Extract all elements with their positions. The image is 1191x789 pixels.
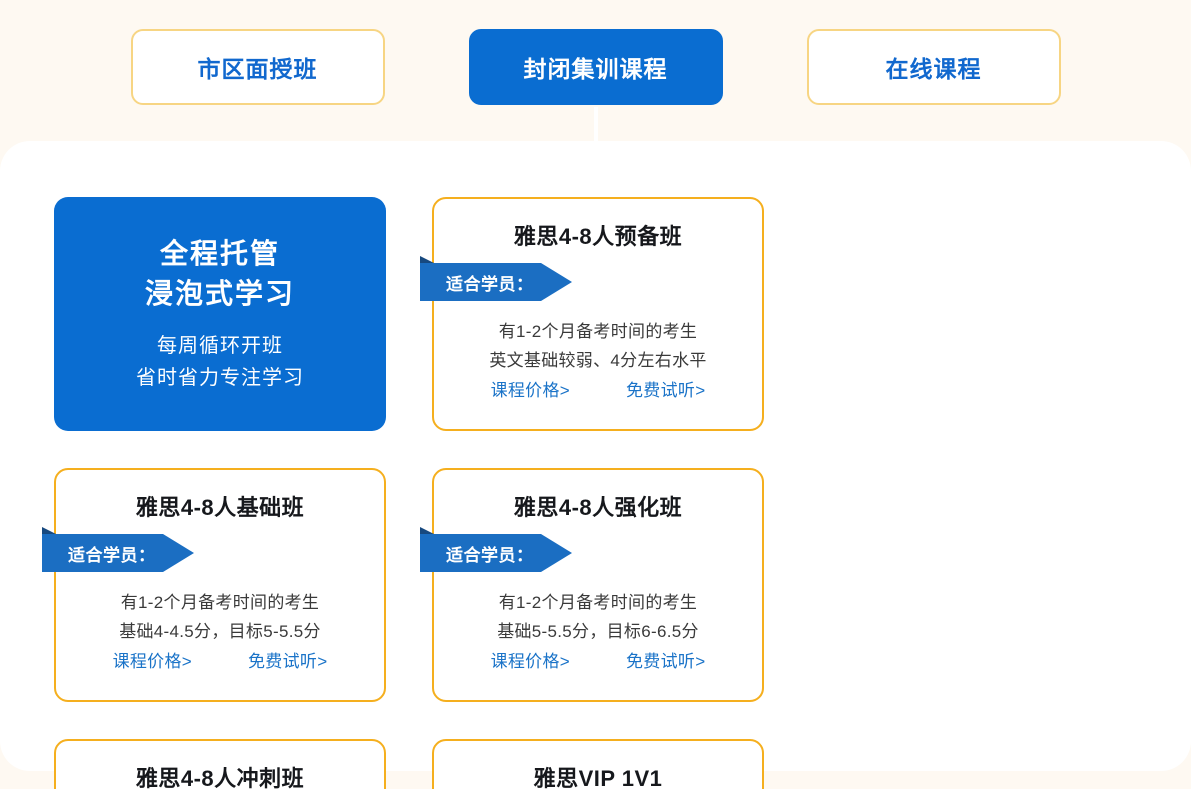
course-links: 课程价格> 免费试听>: [434, 376, 762, 401]
course-title: 雅思VIP 1V1: [434, 761, 762, 789]
course-description: 有1-2个月备考时间的考生 基础5-5.5分，目标6-6.5分: [434, 588, 762, 646]
hero-title-line-1: 全程托管: [145, 234, 295, 274]
course-title: 雅思4-8人预备班: [434, 219, 762, 251]
hero-title-line-2: 浸泡式学习: [145, 274, 295, 314]
ribbon-label: 适合学员：: [420, 541, 534, 566]
ribbon-label: 适合学员：: [42, 541, 156, 566]
ribbon-body: 适合学员：: [420, 534, 572, 572]
tab-online-course[interactable]: 在线课程: [807, 29, 1061, 105]
course-card[interactable]: 雅思VIP 1V1 适合学员： 根据学生基础，定制专属课程 课程价格> 免费试听…: [432, 739, 764, 789]
tab-label: 在线课程: [886, 50, 982, 84]
course-card[interactable]: 雅思4-8人冲刺班 适合学员： 有1-2个月备考时间的考生 基础6-6.5分，目…: [54, 739, 386, 789]
suitable-students-ribbon: 适合学员：: [42, 534, 194, 572]
ribbon-body: 适合学员：: [42, 534, 194, 572]
course-title: 雅思4-8人强化班: [434, 490, 762, 522]
course-description: 有1-2个月备考时间的考生 英文基础较弱、4分左右水平: [434, 317, 762, 375]
ribbon-label: 适合学员：: [420, 270, 534, 295]
ribbon-fold-icon: [420, 527, 434, 534]
description-line: 有1-2个月备考时间的考生: [434, 317, 762, 346]
course-price-link[interactable]: 课程价格>: [491, 647, 570, 672]
course-category-tabs: 市区面授班 封闭集训课程 在线课程: [0, 29, 1191, 105]
course-title: 雅思4-8人基础班: [56, 490, 384, 522]
course-title: 雅思4-8人冲刺班: [56, 761, 384, 789]
course-card[interactable]: 雅思4-8人基础班 适合学员： 有1-2个月备考时间的考生 基础4-4.5分，目…: [54, 468, 386, 702]
course-card[interactable]: 雅思4-8人强化班 适合学员： 有1-2个月备考时间的考生 基础5-5.5分，目…: [432, 468, 764, 702]
free-trial-link[interactable]: 免费试听>: [626, 376, 705, 401]
hero-promo-card[interactable]: 全程托管 浸泡式学习 每周循环开班 省时省力专注学习: [54, 197, 386, 431]
hero-title: 全程托管 浸泡式学习: [145, 234, 295, 314]
tab-label: 封闭集训课程: [524, 50, 668, 84]
course-links: 课程价格> 免费试听>: [434, 647, 762, 672]
tab-closed-intensive[interactable]: 封闭集训课程: [469, 29, 723, 105]
free-trial-link[interactable]: 免费试听>: [626, 647, 705, 672]
ribbon-body: 适合学员：: [420, 263, 572, 301]
course-description: 有1-2个月备考时间的考生 基础4-4.5分，目标5-5.5分: [56, 588, 384, 646]
suitable-students-ribbon: 适合学员：: [420, 534, 572, 572]
description-line: 有1-2个月备考时间的考生: [56, 588, 384, 617]
active-tab-connector: [594, 107, 598, 151]
tab-city-classroom[interactable]: 市区面授班: [131, 29, 385, 105]
description-line: 基础5-5.5分，目标6-6.5分: [434, 617, 762, 646]
description-line: 基础4-4.5分，目标5-5.5分: [56, 617, 384, 646]
ribbon-fold-icon: [420, 256, 434, 263]
hero-subtitle-line-1: 每周循环开班: [136, 330, 304, 362]
suitable-students-ribbon: 适合学员：: [420, 263, 572, 301]
hero-subtitle-line-2: 省时省力专注学习: [136, 362, 304, 394]
tab-label: 市区面授班: [198, 50, 318, 84]
hero-subtitle: 每周循环开班 省时省力专注学习: [136, 330, 304, 394]
description-line: 有1-2个月备考时间的考生: [434, 588, 762, 617]
description-line: 英文基础较弱、4分左右水平: [434, 346, 762, 375]
ribbon-fold-icon: [42, 527, 56, 534]
course-card[interactable]: 雅思4-8人预备班 适合学员： 有1-2个月备考时间的考生 英文基础较弱、4分左…: [432, 197, 764, 431]
course-price-link[interactable]: 课程价格>: [113, 647, 192, 672]
course-panel: 全程托管 浸泡式学习 每周循环开班 省时省力专注学习 雅思4-8人预备班 适合学…: [0, 141, 1191, 771]
course-links: 课程价格> 免费试听>: [56, 647, 384, 672]
course-card-grid: 全程托管 浸泡式学习 每周循环开班 省时省力专注学习 雅思4-8人预备班 适合学…: [54, 197, 1140, 789]
course-price-link[interactable]: 课程价格>: [491, 376, 570, 401]
free-trial-link[interactable]: 免费试听>: [248, 647, 327, 672]
